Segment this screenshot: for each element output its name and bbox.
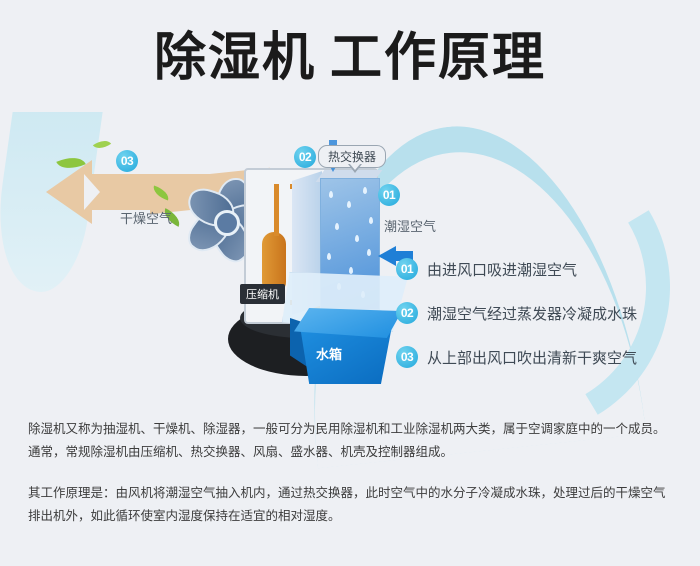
title-part-b: 工作原理	[330, 28, 546, 88]
paragraph-1: 除湿机又称为抽湿机、干燥机、除湿器，一般可分为民用除湿机和工业除湿机两大类，属于…	[28, 418, 676, 464]
title-part-a: 除湿机	[154, 28, 316, 88]
step-badge-03: 03	[396, 346, 418, 368]
description-block: 除湿机又称为抽湿机、干燥机、除湿器，一般可分为民用除湿机和工业除湿机两大类，属于…	[28, 418, 676, 546]
label-dry-air: 干燥空气	[120, 208, 172, 227]
list-item: 03 从上部出风口吹出清新干爽空气	[396, 346, 686, 368]
step-text-01: 由进风口吸进潮湿空气	[427, 259, 577, 280]
step-text-03: 从上部出风口吹出清新干爽空气	[427, 347, 637, 368]
label-humid-air: 潮湿空气	[384, 216, 436, 235]
callout-tail-inner	[349, 163, 361, 170]
coil-pipe	[274, 184, 279, 236]
label-water-tank: 水箱	[316, 344, 342, 363]
diagram-badge-01: 01	[378, 184, 400, 206]
step-list: 01 由进风口吸进潮湿空气 02 潮湿空气经过蒸发器冷凝成水珠 03 从上部出风…	[396, 258, 686, 390]
air-intake-arrow	[378, 246, 396, 266]
page-title: 除湿机工作原理	[0, 28, 700, 88]
step-text-02: 潮湿空气经过蒸发器冷凝成水珠	[427, 303, 637, 324]
step-badge-02: 02	[396, 302, 418, 324]
step-badge-01: 01	[396, 258, 418, 280]
diagram-badge-02: 02	[294, 146, 316, 168]
label-compressor: 压缩机	[240, 284, 285, 304]
paragraph-2: 其工作原理是：由风机将潮湿空气抽入机内，通过热交换器，此时空气中的水分子冷凝成水…	[28, 482, 676, 528]
list-item: 01 由进风口吸进潮湿空气	[396, 258, 686, 280]
list-item: 02 潮湿空气经过蒸发器冷凝成水珠	[396, 302, 686, 324]
diagram-badge-03: 03	[116, 150, 138, 172]
